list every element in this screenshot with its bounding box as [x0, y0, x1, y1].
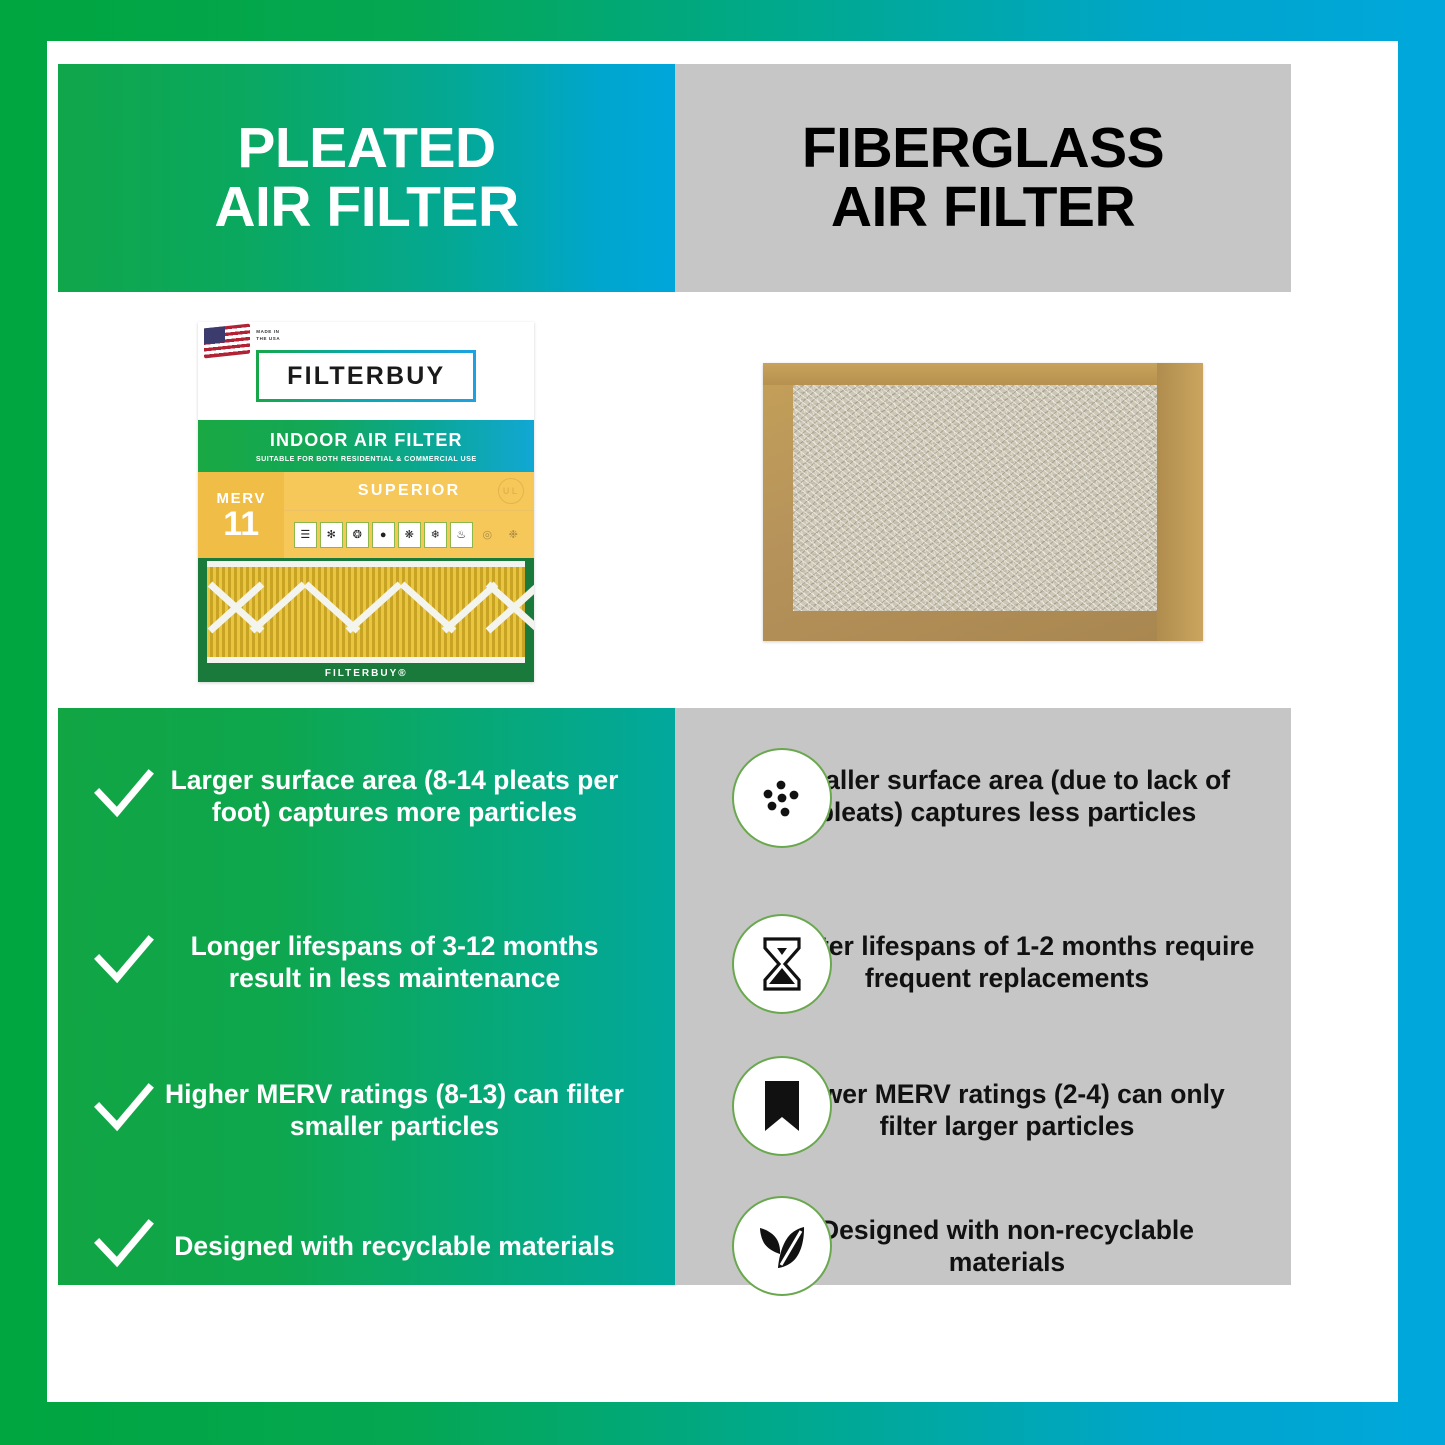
- box-band-title: INDOOR AIR FILTER: [270, 430, 463, 451]
- header-fiberglass-title: FIBERGLASS AIR FILTER: [802, 119, 1164, 238]
- made-in-usa-line2: THE USA: [256, 336, 280, 343]
- box-merv-badge: MERV 11: [198, 472, 284, 558]
- fiberglass-product-cell: [675, 300, 1292, 704]
- leaf-icon: [732, 1196, 832, 1296]
- dust-icon: ☰: [294, 522, 317, 548]
- box-band-subtitle: SUITABLE FOR BOTH RESIDENTIAL & COMMERCI…: [256, 454, 477, 463]
- bacteria-icon: ❋: [398, 522, 421, 548]
- row-1-left-text: Larger surface area (8-14 pleats per foo…: [160, 764, 629, 829]
- row-3-left-text: Higher MERV ratings (8-13) can filter sm…: [160, 1078, 629, 1143]
- row-4-right-text: Designed with non-recyclable materials: [759, 1214, 1255, 1279]
- checkmark-icon: [88, 931, 160, 993]
- box-merv-section: MERV 11 SUPERIOR UL ☰ ✻ ❂ ● ❋: [198, 472, 534, 558]
- header-pleated: PLEATED AIR FILTER: [58, 64, 675, 292]
- filterbuy-box-image: MADE IN THE USA FILTERBUY INDOOR AIR FIL…: [198, 322, 534, 682]
- header-pleated-title: PLEATED AIR FILTER: [214, 119, 518, 238]
- box-mini-icon-strip: ☰ ✻ ❂ ● ❋ ❄ ♨ ◎ ❉: [284, 511, 534, 558]
- insect-icon: ✻: [320, 522, 343, 548]
- bookmark-icon: [732, 1056, 832, 1156]
- box-grade-label: SUPERIOR: [358, 482, 461, 500]
- checkmark-icon: [88, 1079, 160, 1141]
- table-row: Larger surface area (8-14 pleats per foo…: [58, 720, 1291, 872]
- table-row: Higher MERV ratings (8-13) can filter sm…: [58, 1052, 1291, 1168]
- box-top-section: MADE IN THE USA FILTERBUY: [198, 322, 534, 420]
- hourglass-icon: [732, 914, 832, 1014]
- checkmark-icon: [88, 1215, 160, 1277]
- box-pleat-window: FILTERBUY®: [198, 558, 534, 682]
- header-fiberglass-line1: FIBERGLASS: [802, 119, 1164, 178]
- header-fiberglass-line2: AIR FILTER: [802, 178, 1164, 237]
- box-indoor-band: INDOOR AIR FILTER SUITABLE FOR BOTH RESI…: [198, 420, 534, 472]
- header-pleated-line1: PLEATED: [214, 119, 518, 178]
- particles-icon: [732, 748, 832, 848]
- row-3-left: Higher MERV ratings (8-13) can filter sm…: [58, 1078, 675, 1143]
- fiberglass-frame-top: [763, 363, 1203, 385]
- row-4-left: Designed with recyclable materials: [58, 1215, 675, 1277]
- virus-icon: ❉: [502, 522, 525, 548]
- row-2-left: Longer lifespans of 3-12 months result i…: [58, 930, 675, 995]
- box-brand-name: FILTERBUY: [287, 362, 445, 391]
- fiberglass-media: [793, 385, 1157, 611]
- fiberglass-filter-image: [763, 363, 1203, 641]
- pill-icon: ◎: [476, 522, 499, 548]
- smoke-icon: ♨: [450, 522, 473, 548]
- row-3-right-text: Lower MERV ratings (2-4) can only filter…: [759, 1078, 1255, 1143]
- comparison-rows: Larger surface area (8-14 pleats per foo…: [58, 708, 1291, 1285]
- row-2-left-text: Longer lifespans of 3-12 months result i…: [160, 930, 629, 995]
- header-pleated-line2: AIR FILTER: [214, 178, 518, 237]
- box-footer-brand: FILTERBUY®: [198, 668, 534, 679]
- row-1-right-text: Smaller surface area (due to lack of ple…: [759, 764, 1255, 829]
- made-in-usa-line1: MADE IN: [256, 329, 280, 336]
- product-row: MADE IN THE USA FILTERBUY INDOOR AIR FIL…: [58, 300, 1291, 704]
- box-brand-frame: FILTERBUY: [256, 350, 476, 402]
- checkmark-icon: [88, 765, 160, 827]
- row-1-left: Larger surface area (8-14 pleats per foo…: [58, 764, 675, 829]
- row-4-left-text: Designed with recyclable materials: [160, 1230, 629, 1262]
- table-row: Designed with recyclable materials Desig…: [58, 1188, 1291, 1304]
- mold-icon: ●: [372, 522, 395, 548]
- support-mesh: [207, 564, 525, 660]
- table-row: Longer lifespans of 3-12 months result i…: [58, 904, 1291, 1020]
- header-row: PLEATED AIR FILTER FIBERGLASS AIR FILTER: [58, 64, 1291, 292]
- box-grade-section: SUPERIOR UL ☰ ✻ ❂ ● ❋ ❄ ♨ ◎ ❉: [284, 472, 534, 558]
- row-2-right-text: Shorter lifespans of 1-2 months require …: [759, 930, 1255, 995]
- box-merv-value: 11: [223, 507, 259, 541]
- header-fiberglass: FIBERGLASS AIR FILTER: [675, 64, 1291, 292]
- ul-certification-icon: UL: [498, 478, 524, 504]
- box-merv-label: MERV: [217, 490, 266, 507]
- comparison-panel: Larger surface area (8-14 pleats per foo…: [58, 708, 1291, 1285]
- fiberglass-frame-right: [1157, 363, 1203, 641]
- made-in-usa-label: MADE IN THE USA: [256, 329, 280, 343]
- box-grade-row: SUPERIOR UL: [284, 472, 534, 511]
- pollen-icon: ❂: [346, 522, 369, 548]
- pet-dander-icon: ❄: [424, 522, 447, 548]
- pleated-product-cell: MADE IN THE USA FILTERBUY INDOOR AIR FIL…: [58, 300, 675, 704]
- usa-flag-icon: [204, 324, 250, 359]
- infographic-root: PLEATED AIR FILTER FIBERGLASS AIR FILTER…: [0, 0, 1445, 1445]
